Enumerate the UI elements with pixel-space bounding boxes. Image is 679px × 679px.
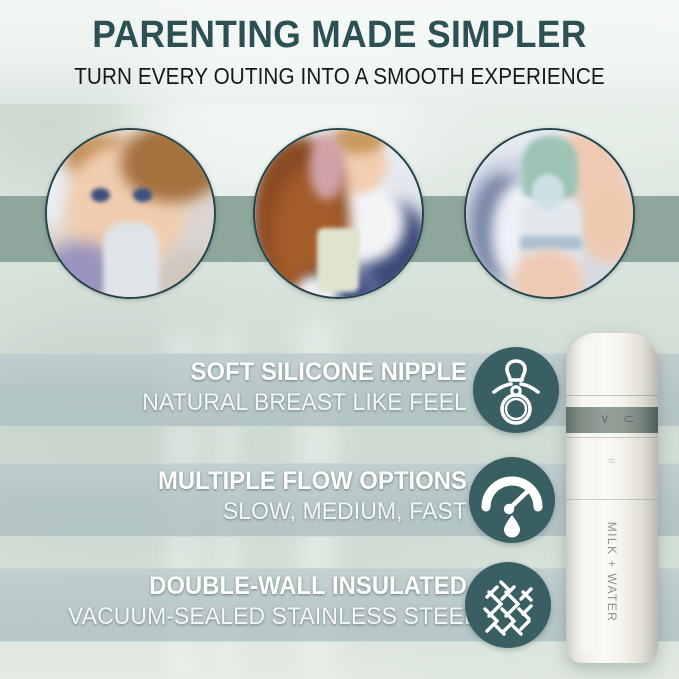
bottle-seam (566, 499, 658, 500)
photo-region-collar-ring (520, 236, 582, 250)
photo-region-eye (91, 188, 110, 202)
photo-region-bottle (317, 228, 359, 292)
bottle-label-text: MILK + WATER (605, 522, 619, 622)
collar-marking: ∨ ⊂ (600, 411, 639, 427)
woven-insulation-icon (465, 562, 551, 648)
flow-gauge-icon (469, 457, 555, 543)
page-title: PARENTING MADE SIMPLER (24, 14, 655, 57)
photo-image (47, 130, 214, 297)
bottle-emboss-mark: ≈ (566, 453, 658, 468)
photo-image (466, 130, 633, 297)
feature-text-multiple-flow-options: MULTIPLE FLOW OPTIONS SLOW, MEDIUM, FAST (47, 468, 467, 525)
bottle-seam (566, 437, 658, 438)
photo-region-hand (576, 174, 635, 264)
feature-subtitle: VACUUM-SEALED STAINLESS STEEL (68, 603, 467, 631)
feature-text-soft-silicone-nipple: SOFT SILICONE NIPPLE NATURAL BREAST LIKE… (47, 359, 467, 416)
feature-title: MULTIPLE FLOW OPTIONS (68, 468, 467, 496)
photo-region-eye (133, 188, 152, 202)
feature-subtitle: SLOW, MEDIUM, FAST (68, 498, 467, 526)
feature-title: DOUBLE-WALL INSULATED (68, 573, 467, 601)
bottle-highlight (580, 339, 596, 655)
photo-circle-mother-holding-baby (253, 128, 424, 299)
photo-circle-baby-drinking-bottle (45, 128, 216, 299)
photo-region-nipple (532, 174, 564, 210)
photo-image (255, 130, 422, 297)
page-subtitle: TURN EVERY OUTING INTO A SMOOTH EXPERIEN… (34, 63, 645, 90)
feature-title: SOFT SILICONE NIPPLE (68, 359, 467, 387)
bottle-cap-seam (566, 395, 658, 396)
photo-region-bottle (103, 222, 159, 299)
product-bottle: ∨ ⊂ ≈ MILK + WATER (566, 333, 658, 663)
photo-circle-hand-with-bottle (464, 128, 635, 299)
product-infographic: PARENTING MADE SIMPLER TURN EVERY OUTING… (0, 0, 679, 679)
feature-text-double-wall-insulated: DOUBLE-WALL INSULATED VACUUM-SEALED STAI… (47, 573, 467, 630)
header-panel: PARENTING MADE SIMPLER TURN EVERY OUTING… (0, 0, 679, 104)
photo-region-hair-bow (309, 134, 345, 200)
pacifier-icon (473, 347, 559, 433)
feature-subtitle: NATURAL BREAST LIKE FEEL (68, 389, 467, 417)
bottle-collar: ∨ ⊂ (566, 407, 658, 433)
